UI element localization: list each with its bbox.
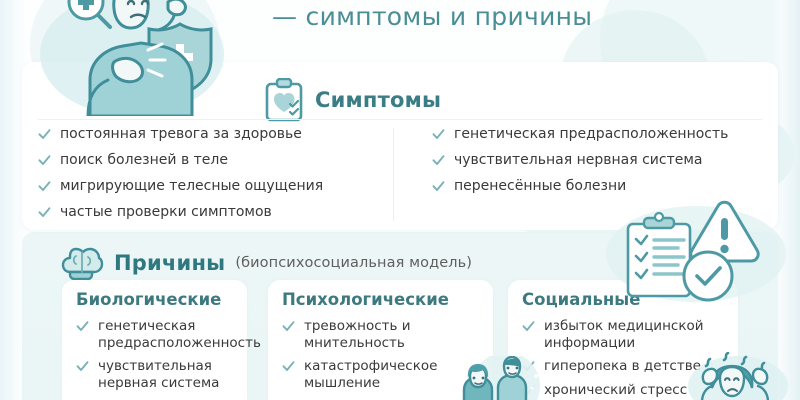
list-item: поиск болезней в теле [38, 152, 393, 170]
check-icon [38, 128, 51, 141]
symptoms-right-list: генетическая предрасположенность чувстви… [432, 126, 754, 196]
checklist-warning-illustration [600, 196, 800, 306]
symptoms-title: Симптомы [315, 88, 441, 112]
list-item-label: генетическая предрасположенность [98, 318, 261, 351]
list-item: избыток медицинской информации [522, 318, 724, 351]
symptoms-header: Симптомы [264, 78, 441, 122]
list-item: постоянная тревога за здоровье [38, 126, 393, 144]
list-item: чувствительная нервная система [76, 358, 233, 391]
check-icon [38, 206, 51, 219]
check-icon [76, 320, 89, 333]
check-icon [38, 180, 51, 193]
list-item: чувствительная нервная система [432, 152, 754, 170]
list-item: частые проверки симптомов [38, 204, 393, 222]
check-icon [432, 128, 445, 141]
check-icon [76, 360, 89, 373]
causes-column-title: Биологические [76, 290, 233, 309]
list-item: генетическая предрасположенность [76, 318, 233, 351]
list-item-label: постоянная тревога за здоровье [60, 126, 302, 144]
list-item: мигрирующие телесные ощущения [38, 178, 393, 196]
list-item-label: перенесённые болезни [454, 178, 626, 196]
page-title: — симптомы и причины [272, 2, 592, 31]
causes-column-list: генетическая предрасположенность чувстви… [76, 318, 233, 392]
check-icon [522, 320, 535, 333]
list-item-label: поиск болезней в теле [60, 152, 228, 170]
causes-title: Причины [114, 251, 225, 275]
list-item: тревожность и мнительность [282, 318, 479, 351]
symptoms-divider [38, 119, 762, 120]
list-item: генетическая предрасположенность [432, 126, 754, 144]
list-item-label: чувствительная нервная система [98, 358, 233, 391]
brain-icon [60, 246, 104, 280]
list-item-label: мигрирующие телесные ощущения [60, 178, 323, 196]
list-item-label: избыток медицинской информации [544, 318, 724, 351]
check-icon [432, 180, 445, 193]
couple-illustration [432, 356, 560, 400]
causes-column-biological: Биологические генетическая предрасположе… [62, 280, 247, 400]
causes-subtitle: (биопсихосоциальная модель) [235, 255, 472, 271]
worried-man-illustration [28, 0, 238, 116]
clipboard-heart-icon [264, 78, 304, 122]
causes-header: Причины (биопсихосоциальная модель) [60, 246, 472, 280]
check-icon [282, 320, 295, 333]
check-icon [282, 360, 295, 373]
list-item-label: частые проверки симптомов [60, 204, 272, 222]
check-icon [38, 154, 51, 167]
symptoms-left-column: постоянная тревога за здоровье поиск бол… [38, 126, 393, 231]
list-item-label: тревожность и мнительность [304, 318, 479, 351]
stressed-woman-illustration [676, 352, 794, 400]
symptoms-left-list: постоянная тревога за здоровье поиск бол… [38, 126, 393, 222]
list-item-label: хронический стресс [544, 382, 687, 399]
causes-column-title: Психологические [282, 290, 479, 309]
list-item-label: чувствительная нервная система [454, 152, 703, 170]
list-item-label: генетическая предрасположенность [454, 126, 728, 144]
list-item: перенесённые болезни [432, 178, 754, 196]
check-icon [432, 154, 445, 167]
